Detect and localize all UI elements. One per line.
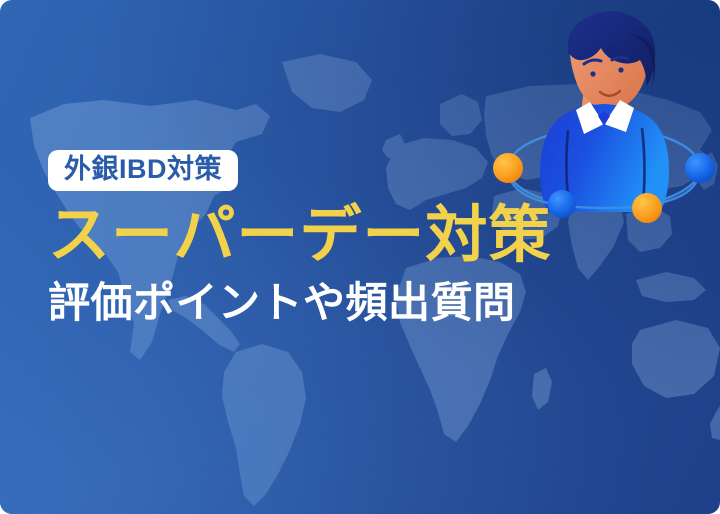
- node-right-blue: [685, 153, 715, 183]
- promo-banner: 外銀IBD対策 スーパーデー対策 評価ポイントや頻出質問: [0, 0, 720, 514]
- category-badge: 外銀IBD対策: [48, 150, 238, 191]
- category-badge-label: 外銀IBD対策: [64, 156, 222, 183]
- banner-main-title: スーパーデー対策: [48, 204, 668, 268]
- banner-text-block: 外銀IBD対策 スーパーデー対策 評価ポイントや頻出質問: [48, 150, 668, 327]
- banner-subtitle: 評価ポイントや頻出質問: [48, 280, 668, 326]
